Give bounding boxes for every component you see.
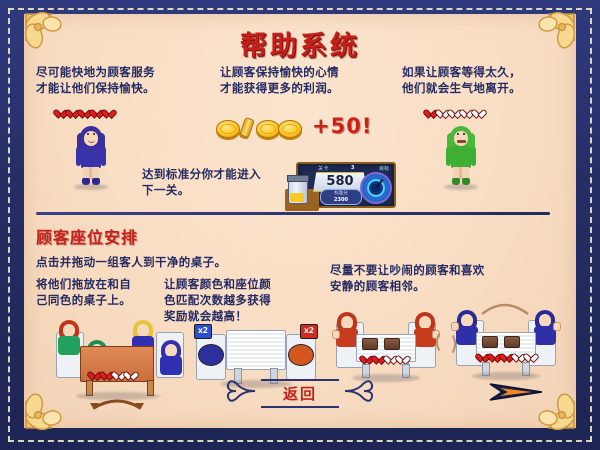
hud-timer-dial [360,172,392,204]
seating-section-heading: 顾客座位安排 [36,224,138,248]
hud-dial-label: 目标 [379,165,389,172]
tip-angry-leave: 如果让顾客等得太久， 他们就会生气地离开。 [402,64,567,96]
scene-loud-table [452,302,560,390]
seating-intro-text: 点击并拖动一组客人到干净的桌子。 [36,254,316,270]
score-hud-panel: 关卡 3 580 标准分 2300 目标 [296,162,396,208]
coin-icon [216,120,240,138]
coin-icon [239,117,255,138]
happy-customer-hearts [58,110,116,120]
noise-wave-icon [436,330,452,354]
page-title: 帮助系统 [24,24,576,63]
flourish-icon [225,378,257,404]
stitch-right [590,8,592,442]
coin-icon [278,120,302,138]
tip-happy-profit: 让顾客保持愉快的心情 才能获得更多的利润。 [220,64,380,96]
hud-level-label: 关卡 [318,165,329,172]
multiplier-badge-red: x2 [300,324,318,339]
heart-full-icon [106,110,116,120]
help-screen: 帮助系统 尽可能快地为顾客服务 才能让他们保持愉快。 让顾客保持愉快的心情 才能… [0,0,600,450]
chair-seat-red [288,344,314,366]
happy-customer-avatar [74,126,108,188]
back-button[interactable]: 返回 [261,379,339,408]
angry-customer-hearts [428,110,486,120]
stitch-bottom [8,440,592,442]
heart-empty-icon [476,110,486,120]
seating-tip-noise: 尽量不要让吵闹的顾客和喜欢 安静的顾客相邻。 [330,262,560,294]
coin-bonus-label: +50! [312,114,372,138]
seated-guest [56,320,82,356]
coin-icon [256,120,280,138]
noise-arc-icon [476,298,534,318]
flourish-icon [343,378,375,404]
hud-score-value: 580 [314,173,366,190]
mouse-cursor-icon [488,378,544,404]
chair-seat-blue [198,344,224,366]
multiplier-badge-blue: x2 [194,324,212,339]
stitch-left [8,8,10,442]
section-divider [36,212,550,215]
angry-customer-avatar [444,126,478,188]
help-page: 帮助系统 尽可能快地为顾客服务 才能让他们保持愉快。 让顾客保持愉快的心情 才能… [24,14,576,428]
hud-goal-value: 2300 [321,197,361,203]
seated-guest [158,340,184,376]
tip-service-speed: 尽可能快地为顾客服务 才能让他们保持愉快。 [36,64,196,96]
seating-tip-color-match: 将他们拖放在和自 己同色的桌子上。 [36,276,166,308]
hud-level-value: 3 [351,165,354,171]
stitch-top [8,8,592,10]
hud-goal-badge: 标准分 2300 [320,189,362,205]
tip-jar-lid-icon [287,175,309,182]
